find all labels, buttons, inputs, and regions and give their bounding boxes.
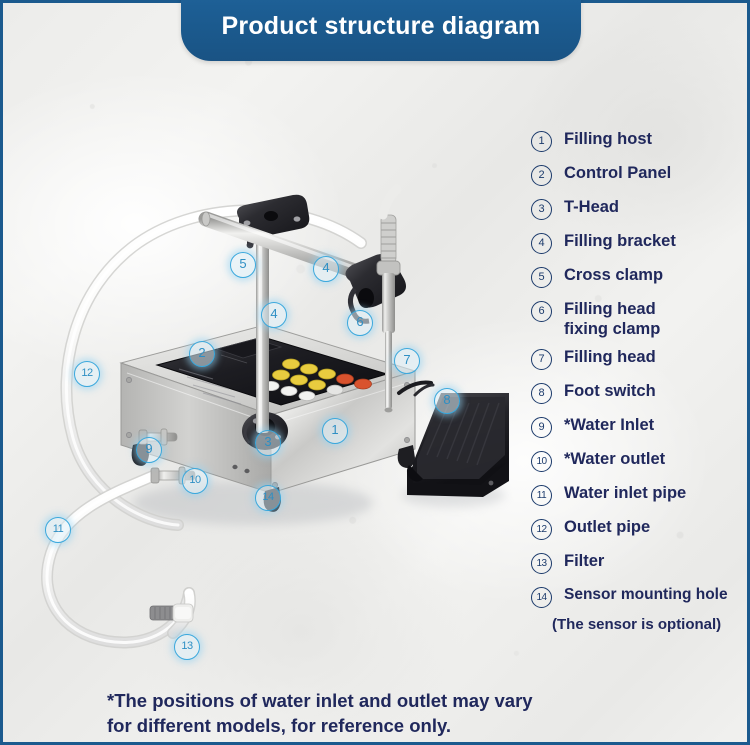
legend-number-11: 11	[531, 485, 552, 506]
header-banner: Product structure diagram	[181, 0, 581, 61]
callout-1: 1	[322, 418, 348, 444]
footnote-line-1: *The positions of water inlet and outlet…	[107, 688, 707, 713]
legend-number-9: 9	[531, 417, 552, 438]
callout-4-vertical: 4	[261, 302, 287, 328]
callout-14: 14	[255, 485, 281, 511]
legend-number-13: 13	[531, 553, 552, 574]
page-title: Product structure diagram	[222, 12, 541, 61]
legend-item-9: 9 *Water Inlet	[531, 415, 743, 438]
legend-number-4: 4	[531, 233, 552, 254]
legend-number-1: 1	[531, 131, 552, 152]
callout-9: 9	[136, 437, 162, 463]
footnote: *The positions of water inlet and outlet…	[107, 688, 707, 738]
legend-number-2: 2	[531, 165, 552, 186]
legend-item-8: 8 Foot switch	[531, 381, 743, 404]
callout-6: 6	[347, 310, 373, 336]
filling-bracket-vertical-rod	[256, 238, 269, 433]
legend-label-12: Outlet pipe	[564, 517, 650, 537]
legend-label-7: Filling head	[564, 347, 656, 367]
legend-number-5: 5	[531, 267, 552, 288]
callout-10: 10	[182, 468, 208, 494]
legend-number-10: 10	[531, 451, 552, 472]
legend-label-6: Filling head fixing clamp	[564, 299, 660, 339]
legend-item-7: 7 Filling head	[531, 347, 743, 370]
legend-number-8: 8	[531, 383, 552, 404]
product-structure-diagram-page: Product structure diagram	[0, 0, 750, 745]
product-illustration: 1 2 3 4 4 5 6 7 8 9 10 11 12 13 14	[3, 93, 533, 693]
legend-item-11: 11 Water inlet pipe	[531, 483, 743, 506]
legend-number-12: 12	[531, 519, 552, 540]
legend-label-14: Sensor mounting hole	[564, 585, 728, 605]
legend-number-3: 3	[531, 199, 552, 220]
legend-item-10: 10 *Water outlet	[531, 449, 743, 472]
legend-list: 1 Filling host 2 Control Panel 3 T-Head …	[531, 129, 743, 633]
callout-8: 8	[434, 388, 460, 414]
callout-12: 12	[74, 361, 100, 387]
callout-13: 13	[174, 634, 200, 660]
filter-part	[150, 604, 193, 622]
legend-item-2: 2 Control Panel	[531, 163, 743, 186]
legend-item-1: 1 Filling host	[531, 129, 743, 152]
legend-label-8: Foot switch	[564, 381, 656, 401]
footnote-line-2: for different models, for reference only…	[107, 713, 707, 738]
callout-3: 3	[255, 430, 281, 456]
legend-label-10: *Water outlet	[564, 449, 665, 469]
legend-item-13: 13 Filter	[531, 551, 743, 574]
legend-item-4: 4 Filling bracket	[531, 231, 743, 254]
legend-label-3: T-Head	[564, 197, 619, 217]
legend-item-6: 6 Filling head fixing clamp	[531, 299, 743, 339]
legend-label-5: Cross clamp	[564, 265, 663, 285]
legend-label-13: Filter	[564, 551, 604, 571]
legend-item-12: 12 Outlet pipe	[531, 517, 743, 540]
callout-2: 2	[189, 341, 215, 367]
legend-label-1: Filling host	[564, 129, 652, 149]
callout-4-horizontal: 4	[313, 256, 339, 282]
callout-7: 7	[394, 348, 420, 374]
legend-label-11: Water inlet pipe	[564, 483, 686, 503]
legend-label-9: *Water Inlet	[564, 415, 654, 435]
legend-number-7: 7	[531, 349, 552, 370]
legend-sensor-note: (The sensor is optional)	[552, 616, 743, 633]
legend-item-5: 5 Cross clamp	[531, 265, 743, 288]
legend-label-4: Filling bracket	[564, 231, 676, 251]
legend-item-14: 14 Sensor mounting hole	[531, 585, 743, 608]
callout-5: 5	[230, 252, 256, 278]
legend-number-14: 14	[531, 587, 552, 608]
legend-number-6: 6	[531, 301, 552, 322]
callout-11: 11	[45, 517, 71, 543]
legend-item-3: 3 T-Head	[531, 197, 743, 220]
legend-label-2: Control Panel	[564, 163, 671, 183]
